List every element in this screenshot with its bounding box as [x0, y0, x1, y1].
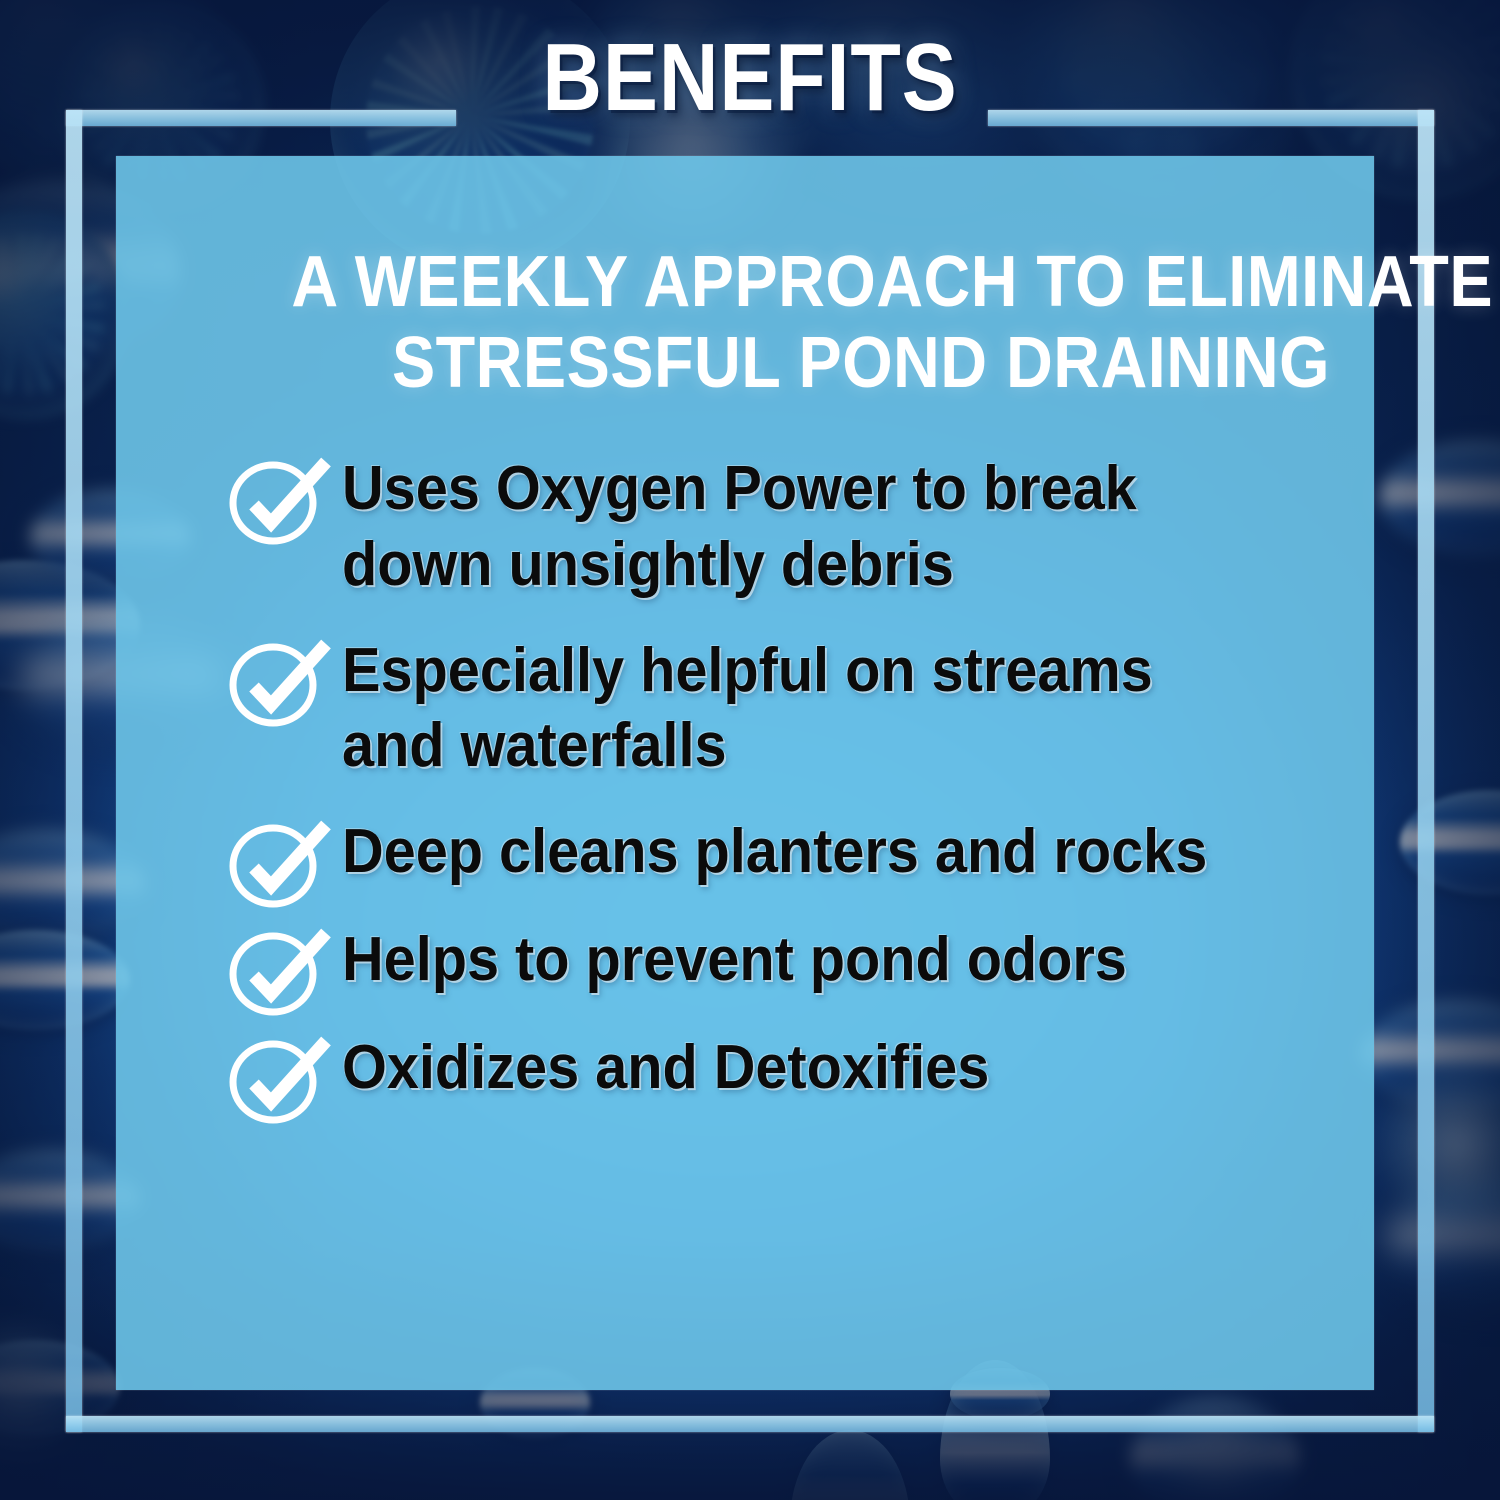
panel-headline: A WEEKLY APPROACH TO ELIMINATE STRESSFUL… — [291, 242, 1330, 403]
list-item: Helps to prevent pond odors — [226, 922, 1330, 1016]
check-circle-icon — [226, 1032, 334, 1124]
list-item: Oxidizes and Detoxifies — [226, 1030, 1330, 1124]
list-item-label: Deep cleans planters and rocks — [342, 814, 1207, 890]
list-item: Uses Oxygen Power to break down unsightl… — [226, 451, 1330, 602]
headline-line-1: A WEEKLY APPROACH TO ELIMINATE — [291, 242, 1330, 323]
list-item: Deep cleans planters and rocks — [226, 814, 1330, 908]
check-circle-icon — [226, 924, 334, 1016]
list-item-label: Helps to prevent pond odors — [342, 922, 1127, 998]
benefits-panel: A WEEKLY APPROACH TO ELIMINATE STRESSFUL… — [116, 156, 1374, 1390]
check-circle-icon — [226, 453, 334, 545]
frame-left-edge — [66, 110, 82, 1432]
benefits-infographic: BENEFITS A WEEKLY APPROACH TO ELIMINATE … — [0, 0, 1500, 1500]
check-circle-icon — [226, 816, 334, 908]
page-title: BENEFITS — [105, 30, 1395, 126]
list-item-label: Uses Oxygen Power to break down unsightl… — [342, 451, 1261, 602]
benefits-list: Uses Oxygen Power to break down unsightl… — [176, 451, 1330, 1124]
frame-bottom-edge — [66, 1416, 1434, 1432]
list-item: Especially helpful on streams and waterf… — [226, 633, 1330, 784]
list-item-label: Oxidizes and Detoxifies — [342, 1030, 989, 1106]
check-circle-icon — [226, 635, 334, 727]
headline-line-2: STRESSFUL POND DRAINING — [291, 323, 1330, 404]
list-item-label: Especially helpful on streams and waterf… — [342, 633, 1261, 784]
